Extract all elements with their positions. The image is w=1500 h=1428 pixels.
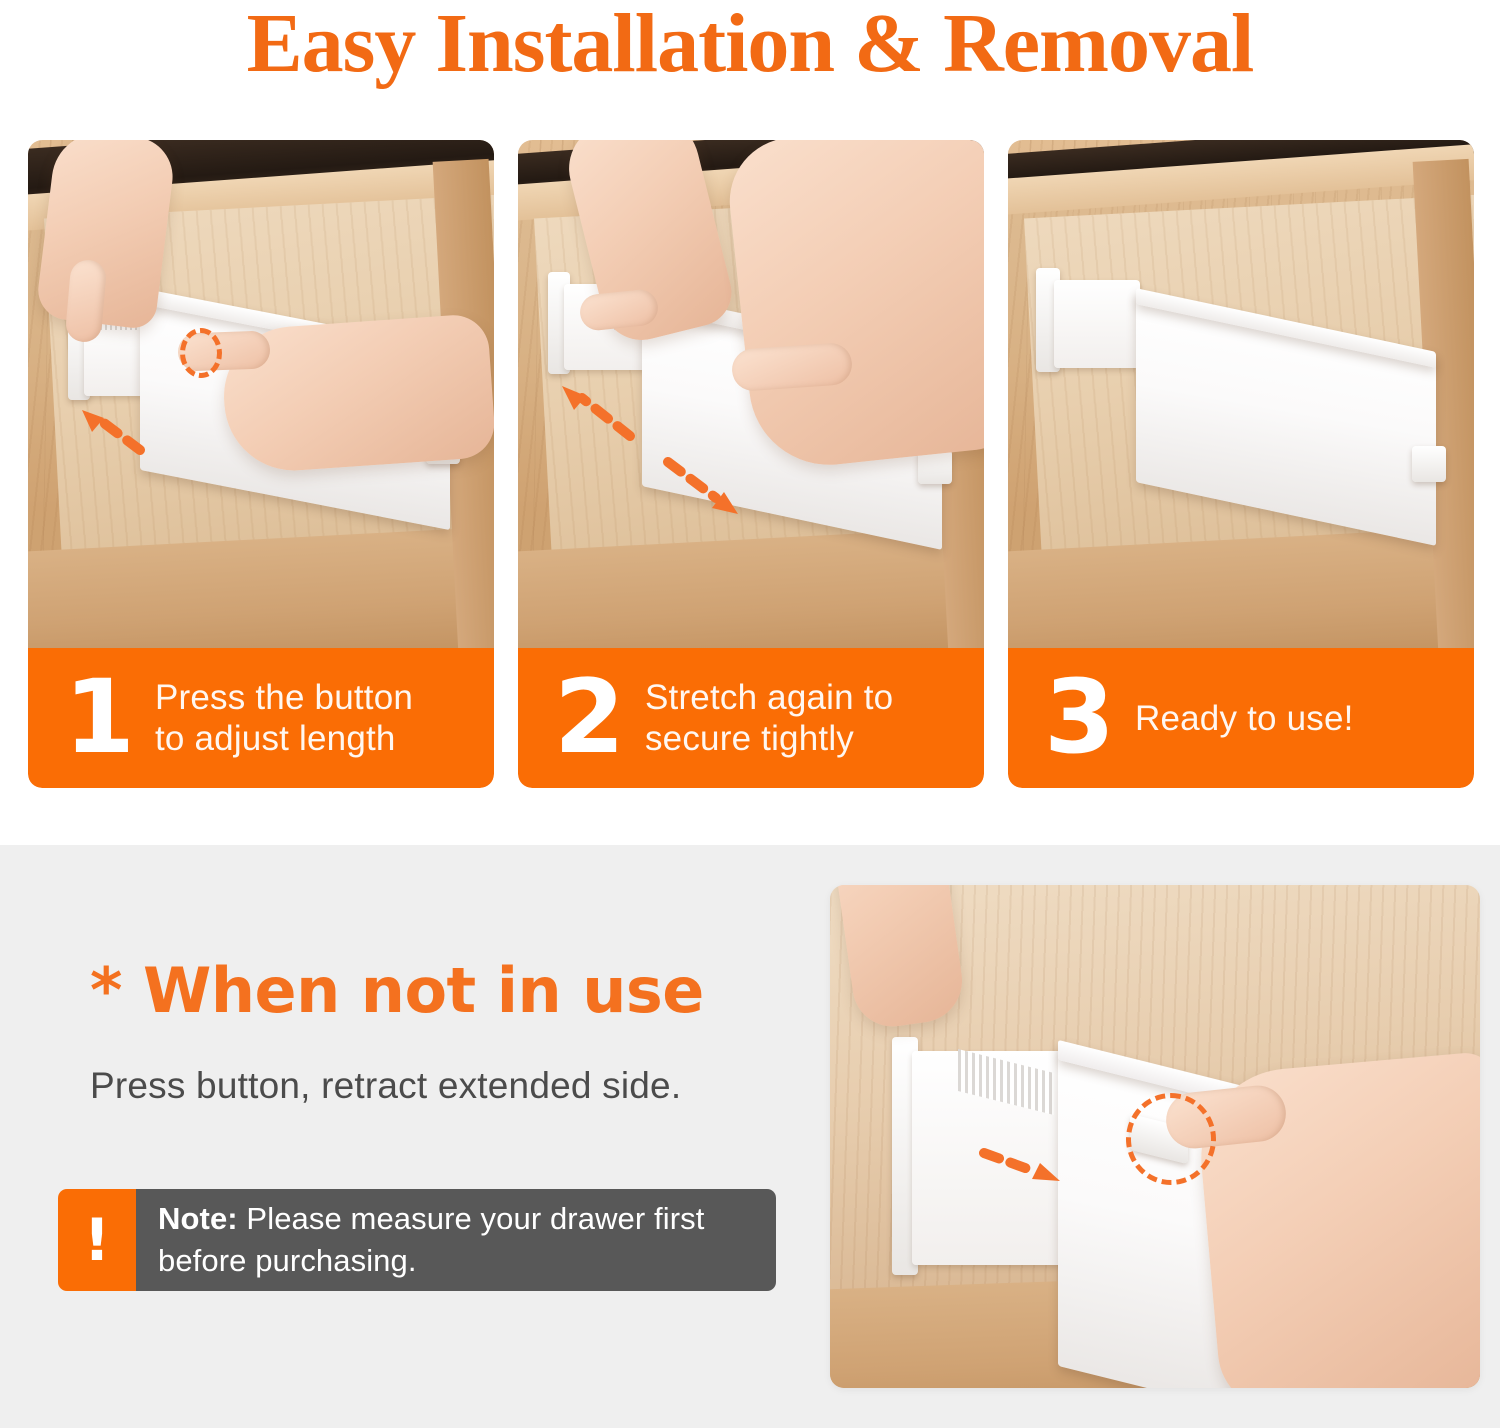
step-1-caption: 1 Press the button to adjust length	[28, 648, 494, 788]
page-title: Easy Installation & Removal	[0, 0, 1500, 92]
step-1-caption-line-2: to adjust length	[155, 719, 396, 758]
step-2-caption-text: Stretch again to secure tightly	[645, 677, 903, 759]
steps-row: 1 Press the button to adjust length	[28, 140, 1478, 788]
right-fingers	[731, 342, 854, 392]
step-2-caption-line-2: secure tightly	[645, 719, 854, 758]
note-box: ! Note: Please measure your drawer first…	[58, 1189, 776, 1291]
step-card-1: 1 Press the button to adjust length	[28, 140, 494, 788]
step-2-caption-line-1: Stretch again to	[645, 678, 893, 717]
when-not-in-use-heading: * When not in use	[90, 955, 810, 1027]
note-message: Please measure your drawer first before …	[158, 1201, 704, 1278]
step-card-2: 2 Stretch again to secure tightly	[518, 140, 984, 788]
note-label: Note:	[158, 1201, 238, 1236]
step-card-3: 3 Ready to use!	[1008, 140, 1474, 788]
note-text: Note: Please measure your drawer first b…	[136, 1189, 776, 1291]
step-2-number: 2	[554, 670, 623, 766]
step-1-number: 1	[64, 670, 133, 766]
when-not-in-use-subtext: Press button, retract extended side.	[90, 1063, 810, 1109]
retract-photo	[830, 885, 1480, 1388]
button-highlight-circle	[180, 328, 222, 378]
divider-far-cap	[1412, 446, 1446, 482]
hand-right	[723, 140, 984, 473]
when-not-in-use-text-block: * When not in use Press button, retract …	[90, 955, 810, 1109]
step-3-caption-text: Ready to use!	[1135, 698, 1364, 739]
arrow-upleft-annotation	[558, 384, 638, 444]
step-3-number: 3	[1044, 670, 1113, 766]
step-1-caption-line-1: Press the button	[155, 678, 413, 717]
arrow-right-annotation	[980, 1143, 1070, 1193]
step-3-photo	[1008, 140, 1474, 650]
hand-left	[35, 140, 177, 331]
step-1-caption-text: Press the button to adjust length	[155, 677, 423, 759]
step-3-caption: 3 Ready to use!	[1008, 648, 1474, 788]
step-2-caption: 2 Stretch again to secure tightly	[518, 648, 984, 788]
arrow-left-annotation	[78, 408, 148, 458]
step-2-photo	[518, 140, 984, 650]
arrow-downright-annotation	[664, 458, 744, 518]
button-highlight-circle	[1126, 1093, 1216, 1185]
divider-rail	[1054, 280, 1140, 368]
step-1-photo	[28, 140, 494, 650]
exclamation-icon: !	[58, 1189, 136, 1291]
